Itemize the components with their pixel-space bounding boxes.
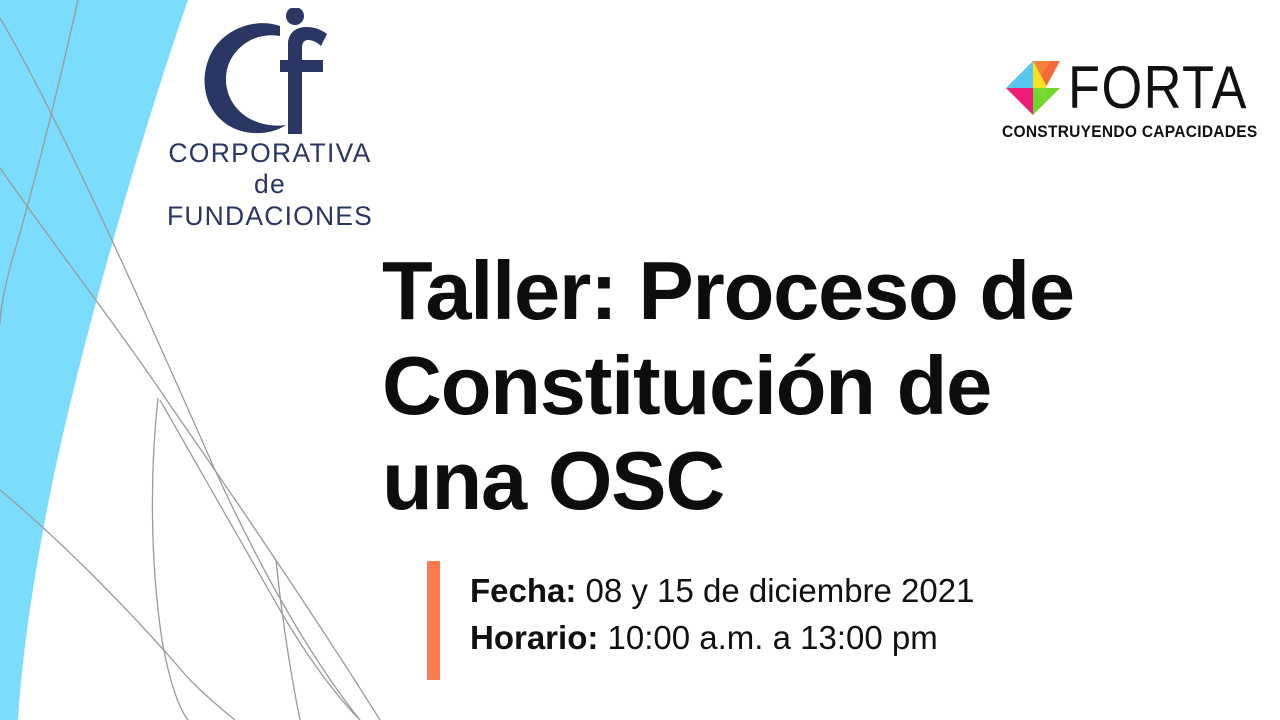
- cf-monogram-icon: [194, 8, 346, 136]
- decor-arc-5: [160, 400, 360, 720]
- forta-triangle-cyan: [1006, 61, 1033, 88]
- decor-arc-7: [276, 560, 300, 720]
- cf-wordmark-line-1: CORPORATIVA: [150, 138, 390, 169]
- page-title-line-1: Taller: Proceso de: [382, 243, 1212, 338]
- cf-wordmark: CORPORATIVA de FUNDACIONES: [150, 138, 390, 232]
- detail-value-horario: 10:00 a.m. a 13:00 pm: [598, 619, 937, 656]
- cf-letter-f: [280, 27, 327, 134]
- forta-triangle-magenta: [1006, 88, 1033, 115]
- details-accent-bar: [427, 561, 440, 680]
- forta-tagline: CONSTRUYENDO CAPACIDADES: [1002, 123, 1209, 142]
- decor-arc-2: [0, 0, 78, 325]
- forta-triangle-mark-icon: [1002, 57, 1064, 119]
- decor-arc-6: [0, 490, 235, 720]
- cf-wordmark-line-2: de FUNDACIONES: [150, 169, 390, 232]
- cf-letter-c: [205, 23, 286, 133]
- detail-row-horario: Horario: 10:00 a.m. a 13:00 pm: [470, 614, 974, 661]
- forta-logo: FORTA CONSTRUYENDO CAPACIDADES: [1002, 55, 1222, 155]
- forta-wordmark: FORTA: [1068, 58, 1248, 118]
- decor-arc-3: [0, 168, 380, 720]
- forta-logo-top-row: FORTA: [1002, 55, 1222, 121]
- page-title-line-2: Constitución de: [382, 338, 1212, 433]
- slide-canvas: CORPORATIVA de FUNDACIONES FORTA: [0, 0, 1280, 720]
- detail-value-fecha: 08 y 15 de diciembre 2021: [576, 572, 974, 609]
- detail-row-fecha: Fecha: 08 y 15 de diciembre 2021: [470, 567, 974, 614]
- details-text-group: Fecha: 08 y 15 de diciembre 2021 Horario…: [470, 561, 974, 680]
- cf-letter-f-dot: [286, 8, 304, 25]
- page-title: Taller: Proceso de Constitución de una O…: [382, 243, 1212, 528]
- detail-label-fecha: Fecha:: [470, 572, 576, 609]
- cf-logo: CORPORATIVA de FUNDACIONES: [150, 8, 390, 208]
- event-details: Fecha: 08 y 15 de diciembre 2021 Horario…: [427, 561, 974, 680]
- page-title-line-3: una OSC: [382, 433, 1212, 528]
- detail-label-horario: Horario:: [470, 619, 598, 656]
- decor-arc-4: [152, 398, 188, 720]
